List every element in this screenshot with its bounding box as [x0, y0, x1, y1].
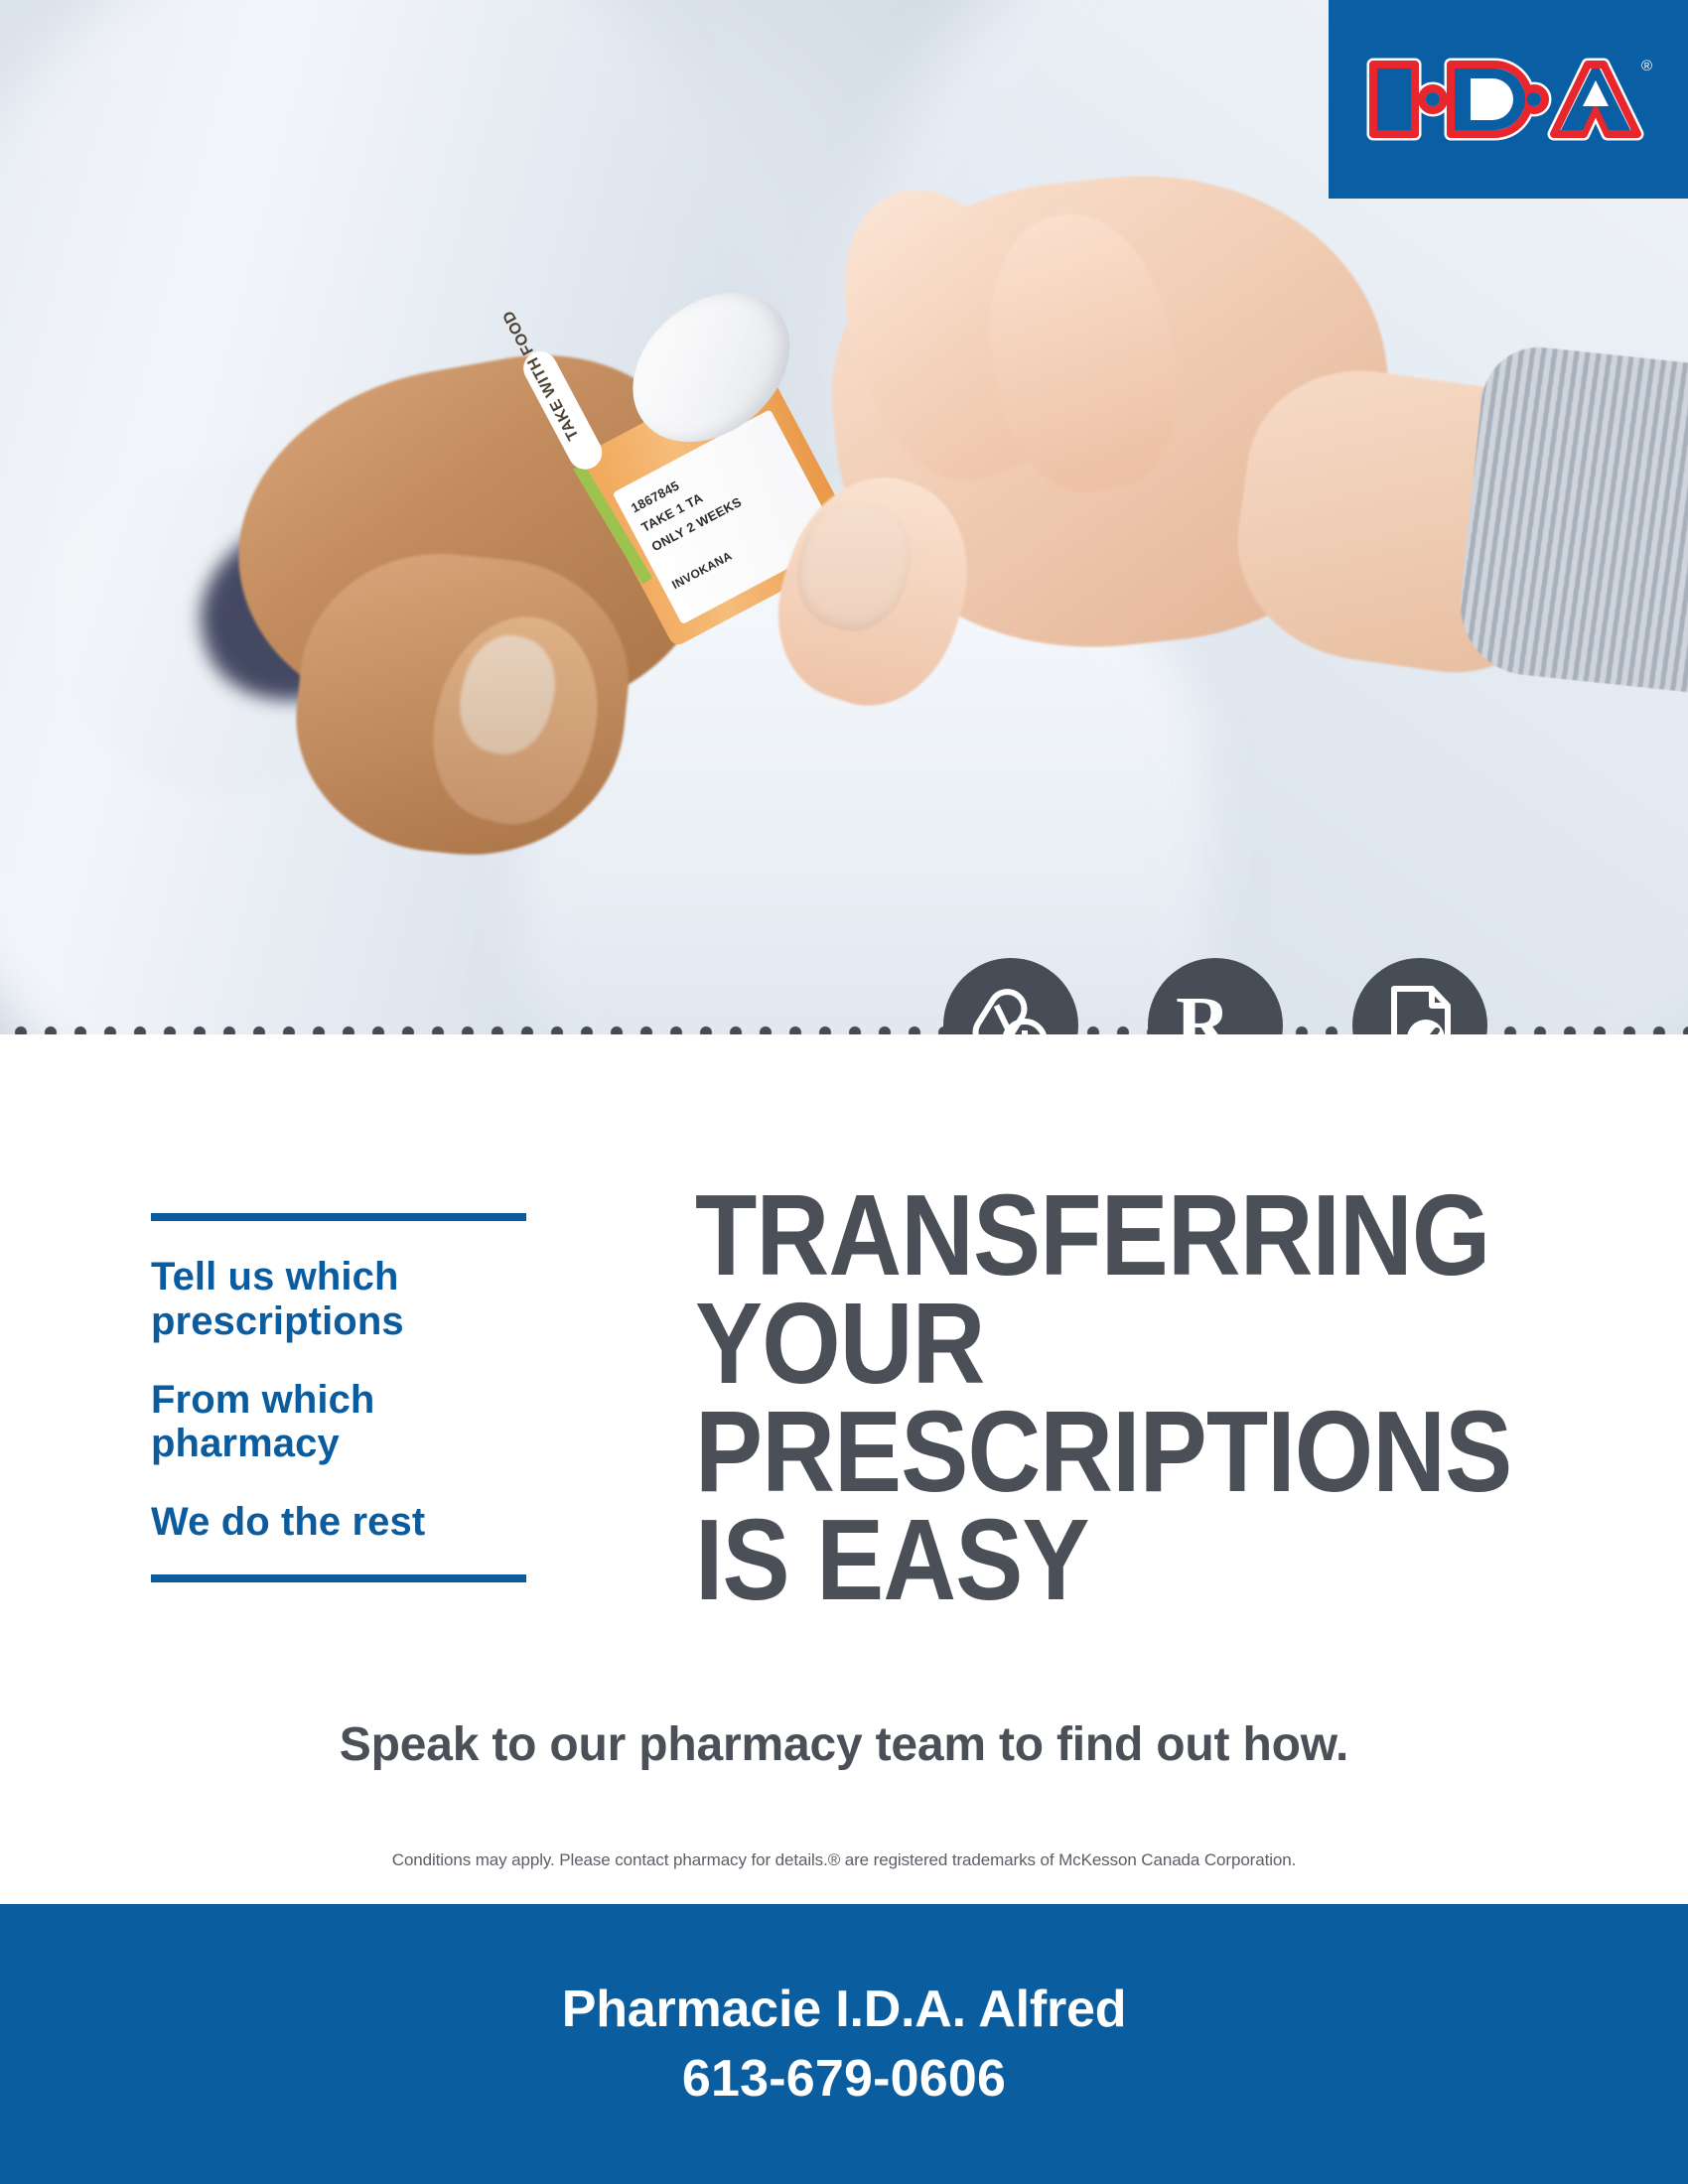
benefit-item-1: Tell us which prescriptions	[151, 1255, 528, 1344]
benefit-item-3: We do the rest	[151, 1500, 528, 1545]
lower-section: Tell us which prescriptions From which p…	[0, 1034, 1688, 2184]
tagline: Speak to our pharmacy team to find out h…	[0, 1717, 1688, 1772]
benefits-list: Tell us which prescriptions From which p…	[151, 1213, 528, 1582]
pharmacy-phone[interactable]: 613-679-0606	[682, 2049, 1006, 2109]
bottle-drug-name: INVOKANA	[669, 549, 734, 593]
bullets-rule-top	[151, 1213, 526, 1221]
bullets-rule-bottom	[151, 1574, 526, 1582]
ida-logo: ®	[1329, 0, 1688, 199]
ida-logo-mark: ®	[1359, 45, 1657, 154]
benefit-item-2: From which pharmacy	[151, 1378, 528, 1467]
disclaimer-text: Conditions may apply. Please contact pha…	[0, 1850, 1688, 1870]
registered-mark: ®	[1641, 58, 1652, 74]
page-title: TRANSFERRING YOUR PRESCRIPTIONS IS EASY	[695, 1181, 1464, 1614]
pharmacy-transfer-poster: TAKE WITH FOOD 1867845 TAKE 1 TA ONLY 2 …	[0, 0, 1688, 2184]
footer-bar: Pharmacie I.D.A. Alfred 613-679-0606	[0, 1904, 1688, 2184]
gray-sweater-cuff	[1454, 341, 1688, 701]
pharmacy-name: Pharmacie I.D.A. Alfred	[562, 1979, 1127, 2039]
